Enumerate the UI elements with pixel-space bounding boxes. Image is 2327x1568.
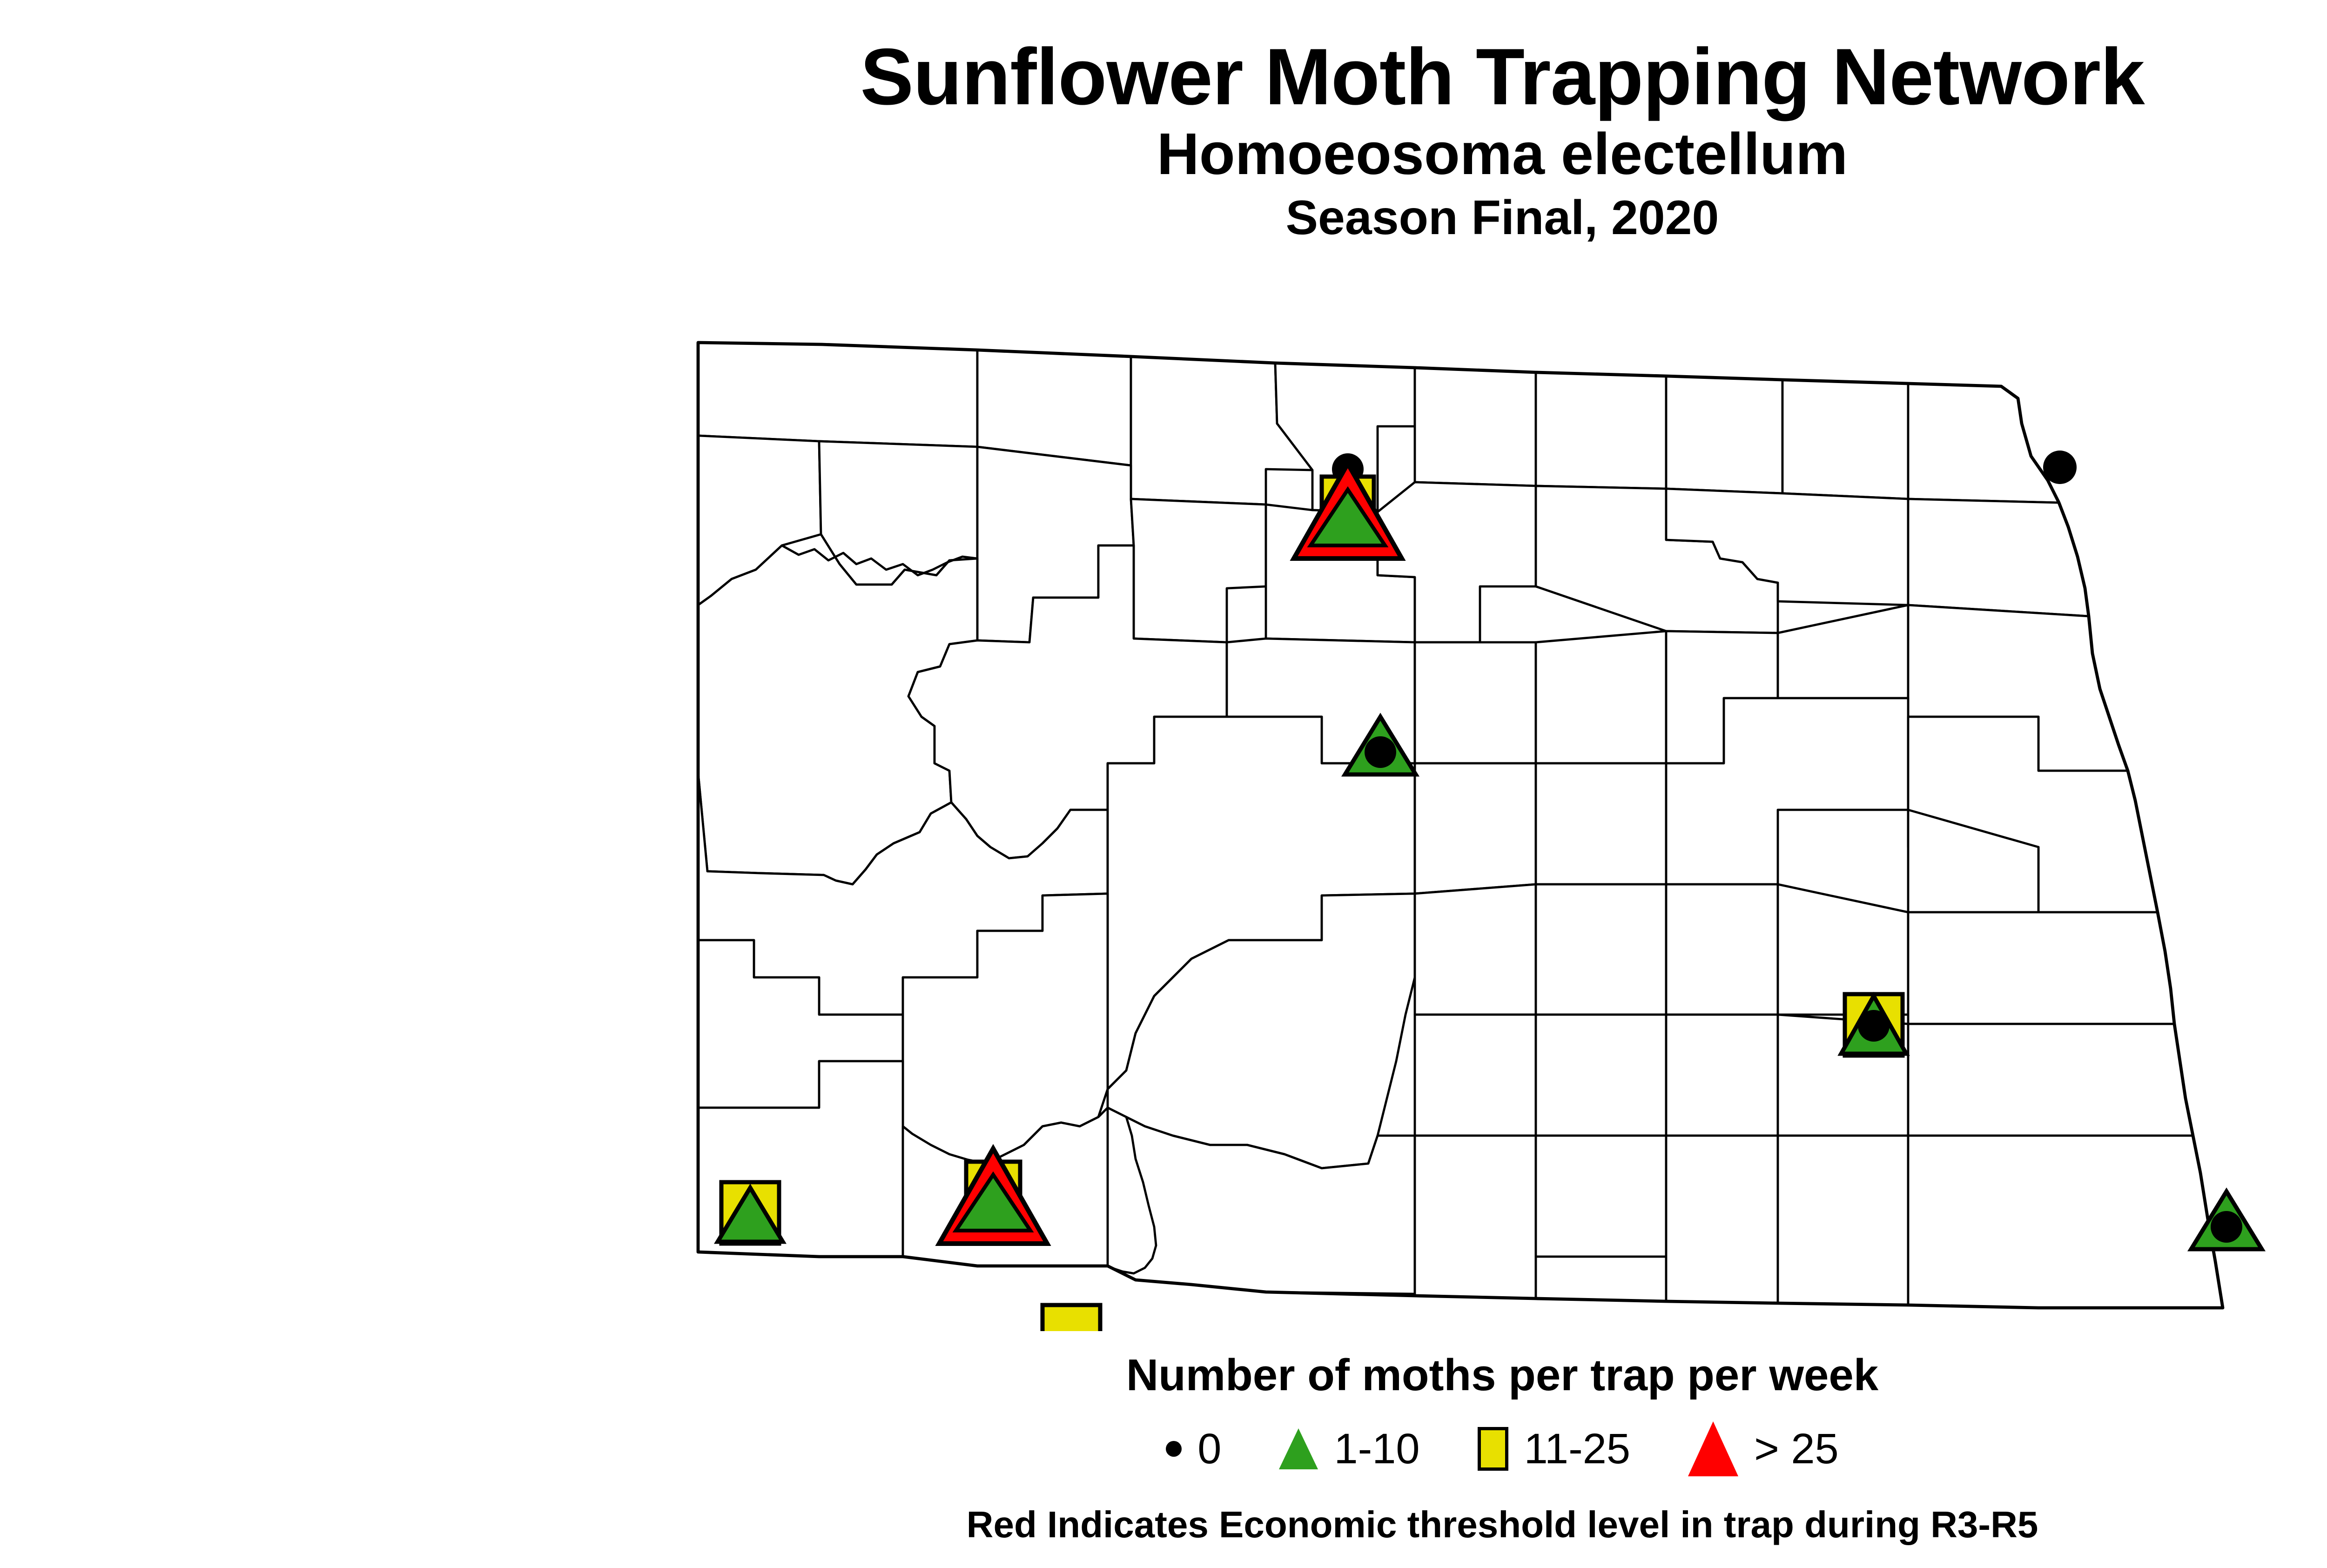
black-dot-icon [1858,1010,1890,1042]
yellow-square-icon [1042,1305,1100,1331]
threshold-note: Red Indicates Economic threshold level i… [0,1503,2327,1546]
legend-label-1-10: 1-10 [1334,1427,1419,1470]
black-dot-icon [2211,1211,2242,1243]
species-subtitle: Homoeosoma electellum [0,123,2327,185]
marker-east-central-square[interactable] [1841,994,1906,1056]
legend-title: Number of moths per trap per week [0,1350,2327,1401]
black-dot-icon [1365,736,1396,768]
legend-label-11-25: 11-25 [1524,1427,1630,1470]
page-title: Sunflower Moth Trapping Network [0,36,2327,118]
legend-item-11-25[interactable]: 11-25 [1478,1427,1630,1471]
marker-northeast-zero[interactable] [2043,451,2077,484]
marker-southwest-square[interactable] [718,1182,783,1244]
legend-items: 0 1-10 11-25 > 25 [0,1421,2327,1476]
legend-item-over-25[interactable]: > 25 [1688,1421,1839,1476]
yellow-square-icon [1478,1427,1508,1471]
legend-label-over-25: > 25 [1754,1427,1839,1470]
legend-label-zero: 0 [1197,1427,1221,1470]
black-dot-icon [2043,451,2077,484]
map-svg [670,326,2327,1331]
green-triangle-icon [1279,1428,1318,1469]
legend: Number of moths per trap per week 0 1-10… [0,1350,2327,1476]
black-dot-icon [1166,1441,1182,1457]
red-triangle-icon [1688,1421,1738,1476]
season-subtitle: Season Final, 2020 [0,193,2327,243]
county-boundaries [698,343,2223,1308]
north-dakota-county-map[interactable] [670,326,2327,1331]
legend-item-1-10[interactable]: 1-10 [1279,1427,1419,1470]
legend-item-zero[interactable]: 0 [1166,1427,1221,1470]
marker-south-yellow[interactable] [1042,1305,1100,1331]
title-block: Sunflower Moth Trapping Network Homoeoso… [0,0,2327,243]
